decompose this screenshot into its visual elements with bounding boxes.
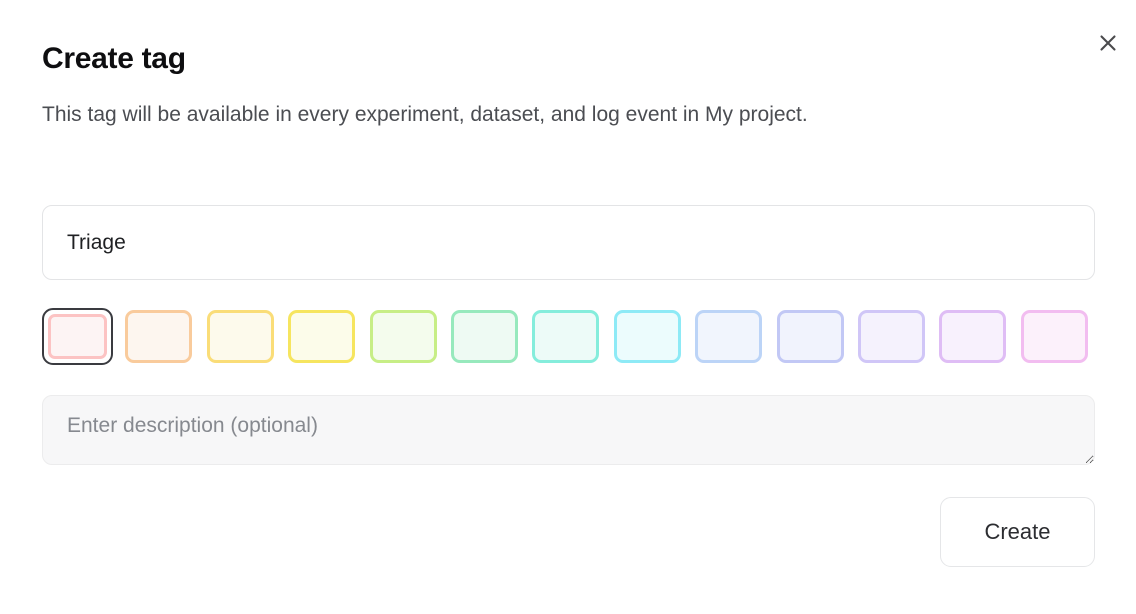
dialog-footer: Create: [42, 497, 1095, 567]
color-swatch-yellow[interactable]: [286, 308, 357, 365]
color-swatch-blue[interactable]: [775, 308, 846, 365]
close-icon: [1097, 32, 1119, 54]
color-chip-amber: [207, 310, 274, 363]
color-chip-green: [451, 310, 518, 363]
color-chip-cyan: [614, 310, 681, 363]
color-swatch-green[interactable]: [449, 308, 520, 365]
color-chip-red: [48, 314, 107, 359]
color-chip-yellow: [288, 310, 355, 363]
color-chip-teal: [532, 310, 599, 363]
color-swatch-teal[interactable]: [530, 308, 601, 365]
color-swatch-indigo[interactable]: [856, 308, 927, 365]
color-swatch-violet[interactable]: [937, 308, 1008, 365]
create-tag-dialog: Create tag This tag will be available in…: [0, 0, 1136, 614]
dialog-description: This tag will be available in every expe…: [42, 95, 1002, 134]
color-swatch-red[interactable]: [42, 308, 113, 365]
color-chip-violet: [939, 310, 1006, 363]
color-swatch-row: [42, 306, 1095, 366]
tag-name-input[interactable]: [42, 205, 1095, 280]
color-swatch-lime[interactable]: [368, 308, 439, 365]
color-swatch-amber[interactable]: [205, 308, 276, 365]
close-button[interactable]: [1091, 26, 1125, 60]
color-swatch-orange[interactable]: [123, 308, 194, 365]
color-swatch-light-blue[interactable]: [693, 308, 764, 365]
create-button[interactable]: Create: [940, 497, 1095, 567]
page-title: Create tag: [42, 38, 186, 80]
color-chip-lime: [370, 310, 437, 363]
color-chip-blue: [777, 310, 844, 363]
color-swatch-pink[interactable]: [1019, 308, 1090, 365]
color-chip-pink: [1021, 310, 1088, 363]
color-chip-light-blue: [695, 310, 762, 363]
color-chip-orange: [125, 310, 192, 363]
color-swatch-cyan[interactable]: [612, 308, 683, 365]
tag-description-textarea[interactable]: [42, 395, 1095, 465]
color-chip-indigo: [858, 310, 925, 363]
